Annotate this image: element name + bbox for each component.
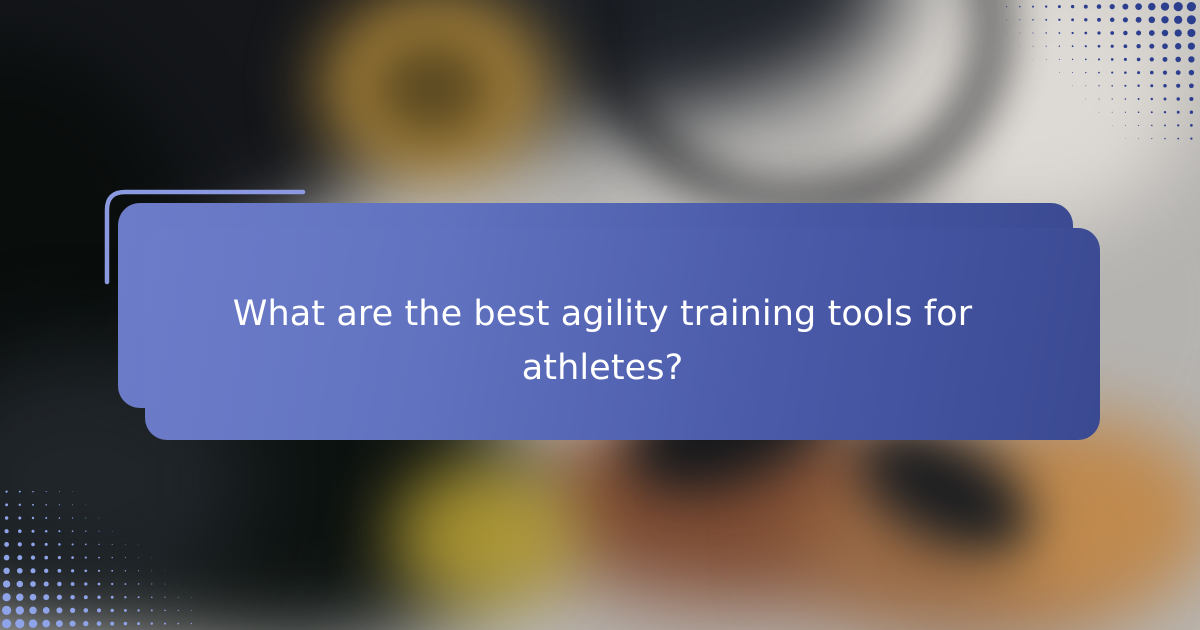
social-share-card: What are the best agility training tools… — [0, 0, 1200, 630]
page-title: What are the best agility training tools… — [223, 287, 983, 396]
headline-card: What are the best agility training tools… — [145, 228, 1100, 440]
background-blob — [372, 38, 492, 138]
background-blob — [390, 460, 580, 610]
